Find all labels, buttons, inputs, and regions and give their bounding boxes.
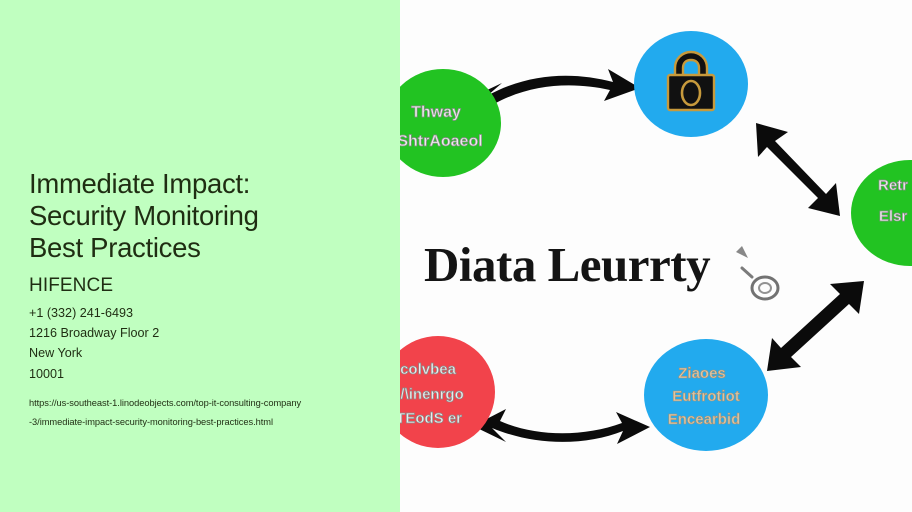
node-threat-detection[interactable]: Thway ShtrAoaeol xyxy=(400,69,501,177)
node-threat-detection-shape xyxy=(400,69,501,177)
node-incident-response[interactable]: Ziaoes Eutfrotiot Encearbid xyxy=(644,339,768,451)
node-red-alert-line-3: ITEodS er xyxy=(400,410,462,427)
source-url[interactable]: https://us-southeast-1.linodeobjects.com… xyxy=(29,394,379,432)
node-right-green-line-1: Retr xyxy=(878,177,908,194)
node-lock[interactable] xyxy=(634,31,748,137)
diagram-center-title: Diata Leurrty xyxy=(424,236,710,293)
info-panel: Immediate Impact: Security Monitoring Be… xyxy=(0,0,400,512)
magnifier-artifact xyxy=(736,246,778,299)
node-incident-response-line-2: Eutfrotiot xyxy=(672,388,739,405)
address-zip: 10001 xyxy=(29,364,379,384)
node-incident-response-line-3: Encearbid xyxy=(668,411,741,428)
arrow-top-right xyxy=(756,123,840,216)
info-panel-content: Immediate Impact: Security Monitoring Be… xyxy=(29,168,379,432)
source-url-line-1: https://us-southeast-1.linodeobjects.com… xyxy=(29,394,379,413)
source-url-line-2: -3/immediate-impact-security-monitoring-… xyxy=(29,413,379,432)
node-red-alert-line-2: i/\inenrgo xyxy=(400,386,464,403)
address-street: 1216 Broadway Floor 2 xyxy=(29,323,379,343)
node-red-alert[interactable]: colvbea i/\inenrgo ITEodS er xyxy=(400,336,495,448)
node-right-green[interactable]: Retr Elsr xyxy=(851,160,912,266)
node-incident-response-line-1: Ziaoes xyxy=(678,365,726,382)
diagram-panel: Thway ShtrAoaeol Retr Elsr xyxy=(400,0,912,512)
address-city: New York xyxy=(29,343,379,363)
page-title: Immediate Impact: Security Monitoring Be… xyxy=(29,168,379,264)
node-right-green-line-2: Elsr xyxy=(879,208,908,225)
arrow-bottom-right xyxy=(767,281,864,371)
node-threat-detection-line-1: Thway xyxy=(411,104,461,121)
node-red-alert-line-1: colvbea xyxy=(400,361,457,378)
brand-name: HIFENCE xyxy=(29,275,379,297)
phone-number: +1 (332) 241-6493 xyxy=(29,303,379,323)
poster-canvas: Thway ShtrAoaeol Retr Elsr xyxy=(0,0,912,512)
diagram-graphic: Thway ShtrAoaeol Retr Elsr xyxy=(400,0,912,512)
arrow-bottom-left xyxy=(473,409,650,444)
node-threat-detection-line-2: ShtrAoaeol xyxy=(400,133,483,150)
